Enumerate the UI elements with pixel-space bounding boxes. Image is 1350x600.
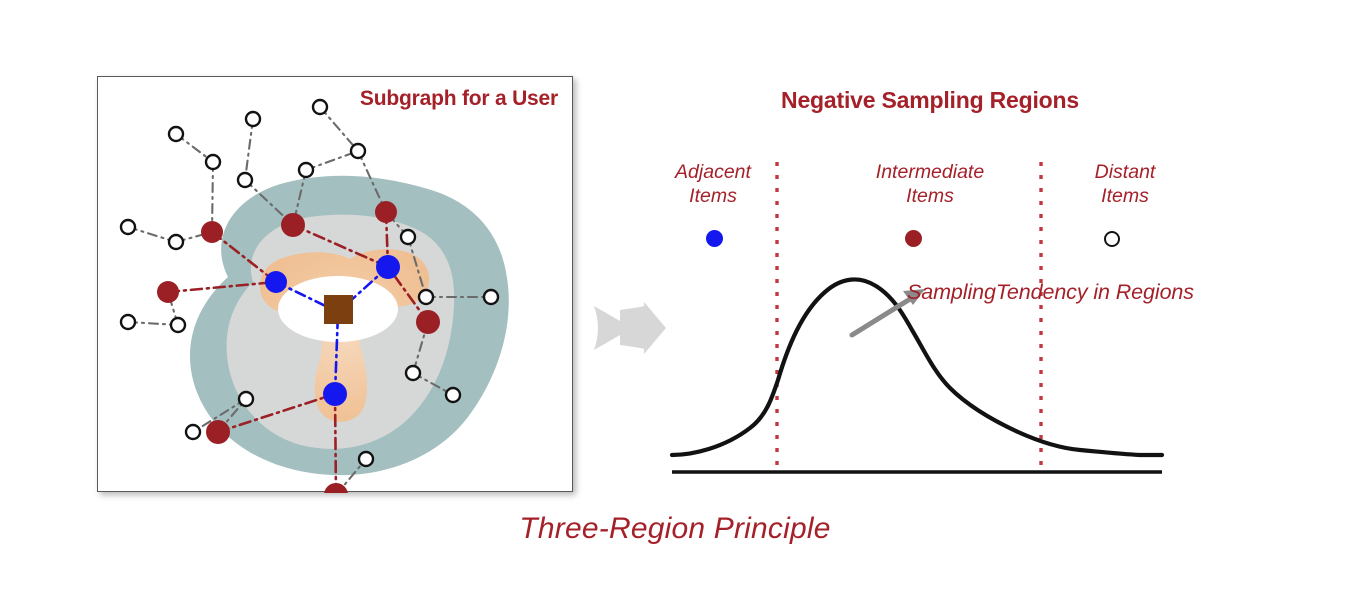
legend-dot-intermediate bbox=[905, 230, 922, 247]
region-label-intermediate: Intermediate Items bbox=[835, 160, 1025, 209]
region-label-intermediate-line2: Items bbox=[906, 185, 954, 207]
figure-caption-text: Three-Region Principle bbox=[519, 512, 830, 545]
legend-dot-distant bbox=[1104, 231, 1120, 247]
figure-root: Subgraph for a User Negative Sampling Re… bbox=[0, 0, 1350, 600]
user-node bbox=[324, 295, 353, 324]
region-label-adjacent-line1: Adjacent bbox=[675, 161, 751, 183]
subgraph-illustration bbox=[98, 77, 574, 493]
subgraph-panel: Subgraph for a User bbox=[97, 76, 573, 492]
region-label-distant-line2: Items bbox=[1101, 185, 1149, 207]
density-curve bbox=[672, 279, 1162, 455]
region-label-distant-line1: Distant bbox=[1095, 161, 1156, 183]
legend-dot-adjacent bbox=[706, 230, 723, 247]
subgraph-panel-title: Subgraph for a User bbox=[360, 87, 558, 111]
sampling-regions-panel: Negative Sampling Regions Adjacent Items… bbox=[620, 80, 1320, 500]
region-label-intermediate-line1: Intermediate bbox=[876, 161, 984, 183]
region-label-adjacent-line2: Items bbox=[689, 185, 737, 207]
region-label-adjacent: Adjacent Items bbox=[638, 160, 788, 209]
sampling-tendency-annotation: SamplingTendency in Regions bbox=[907, 280, 1194, 305]
figure-caption: Three-Region Principle bbox=[0, 512, 1350, 546]
region-label-distant: Distant Items bbox=[1050, 160, 1200, 209]
